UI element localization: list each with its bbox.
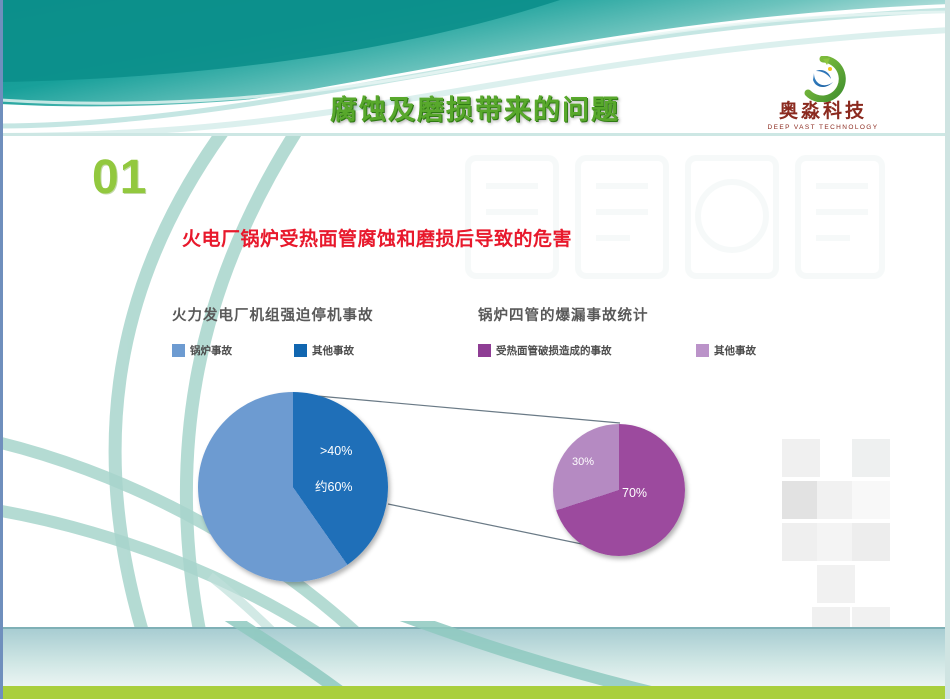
pie-chart-2 [553, 424, 685, 556]
pie-chart-1 [198, 392, 388, 582]
logo-name-cn: 奥淼科技 [748, 101, 898, 123]
legend-item-boiler-accident: 锅炉事故 [172, 343, 232, 358]
pie2-slice-label-tube: 70% [622, 486, 647, 500]
slide-canvas: 腐蚀及磨损带来的问题 奥淼科技 DEEP VAST [0, 0, 950, 699]
charts-figure: 火力发电厂机组强迫停机事故 锅炉四管的爆漏事故统计 锅炉事故 其他事故 受热面管… [160, 296, 780, 586]
pie2-slice-label-other: 30% [572, 456, 594, 468]
page-title-text: 腐蚀及磨损带来的问题 [330, 95, 620, 125]
pie1-slice-label-other: >40% [320, 444, 352, 458]
legend-item-other-accident-1: 其他事故 [294, 343, 354, 358]
swirl-logo-icon [800, 56, 846, 102]
company-logo: 奥淼科技 DEEP VAST TECHNOLOGY [748, 56, 898, 134]
legend-swatch-icon [172, 344, 185, 357]
footer-band [0, 621, 950, 699]
legend-swatch-icon [696, 344, 709, 357]
slide-frame-left [0, 0, 3, 699]
square-grid-decoration [782, 439, 914, 639]
legend-item-tube-damage-accident: 受热面管破损造成的事故 [478, 343, 612, 358]
chart-title-1: 火力发电厂机组强迫停机事故 [172, 304, 374, 325]
legend-label: 受热面管破损造成的事故 [496, 343, 612, 358]
legend-label: 其他事故 [714, 343, 756, 358]
legend-item-other-accident-2: 其他事故 [696, 343, 756, 358]
legend-label: 锅炉事故 [190, 343, 232, 358]
legend-swatch-icon [294, 344, 307, 357]
footer-green-strip [0, 686, 950, 699]
legend-swatch-icon [478, 344, 491, 357]
section-number: 01 [92, 150, 147, 205]
slide-frame-right [945, 0, 950, 699]
legend-label: 其他事故 [312, 343, 354, 358]
subtitle-text: 火电厂锅炉受热面管腐蚀和磨损后导致的危害 [182, 224, 572, 251]
chart-title-2: 锅炉四管的爆漏事故统计 [478, 304, 649, 325]
logo-name-en: DEEP VAST TECHNOLOGY [748, 123, 898, 132]
pie1-slice-label-boiler: 约60% [315, 476, 353, 495]
